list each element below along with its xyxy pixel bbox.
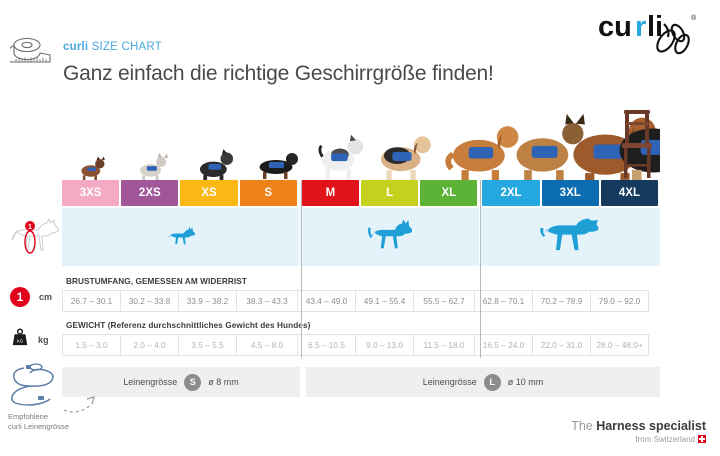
- chest-values-row: 26.7 – 30.130.2 – 33.833.9 – 38.238.3 – …: [62, 290, 660, 312]
- weight-value-3xs: 1.5 – 3.0: [62, 334, 121, 356]
- weight-value-m: 6.5 – 10.5: [297, 334, 356, 356]
- leash-badge-large: L: [484, 374, 501, 391]
- page-kicker: curli SIZE CHART: [63, 41, 162, 53]
- chest-value-m: 43.4 – 49.0: [297, 290, 356, 312]
- footer-tagline-light: The: [571, 419, 596, 433]
- weight-values-row: 1.5 – 3.02.0 – 4.03.5 – 5.54.5 – 8.06.5 …: [62, 334, 660, 356]
- chest-value-xl: 55.5 – 62.7: [413, 290, 475, 312]
- wooden-chair-scale-reference: [616, 108, 658, 180]
- size-chart-table: 3XS2XSXSSMLXL2XL3XL4XL BRUSTUMFAN: [62, 180, 660, 397]
- size-header-2xl[interactable]: 2XL: [482, 180, 539, 206]
- dog-chest-measurement-diagram: 1: [6, 218, 62, 266]
- chest-row-label-row: BRUSTUMFANG, GEMESSEN AM WIDERRIST: [62, 273, 660, 290]
- weight-value-xs: 3.5 – 5.5: [178, 334, 237, 356]
- silhouette-group-large: [480, 208, 660, 266]
- chest-value-3xs: 26.7 – 30.1: [62, 290, 121, 312]
- weight-value-2xl: 16.5 – 24.0: [474, 334, 533, 356]
- size-chart-page: curli SIZE CHART Ganz einfach die richti…: [0, 0, 720, 456]
- size-header-l[interactable]: L: [361, 180, 418, 206]
- weight-unit-label: kg: [38, 335, 49, 345]
- leash-label-large: Leinengrösse: [423, 377, 477, 387]
- dashed-curved-arrow-icon: [62, 394, 104, 414]
- leash-badge-small: S: [184, 374, 201, 391]
- weight-row-label: GEWICHT (Referenz durchschnittliches Gew…: [62, 321, 310, 330]
- size-header-s[interactable]: S: [240, 180, 297, 206]
- svg-text:cu: cu: [598, 11, 632, 43]
- chest-unit-group: 1 cm: [10, 287, 52, 307]
- size-header-xs[interactable]: XS: [180, 180, 237, 206]
- dog-photo-size-comparison: [60, 108, 660, 180]
- leash-size-small: Leinengrösse S ø 8 mm: [62, 367, 300, 397]
- size-header-m[interactable]: M: [302, 180, 359, 206]
- coiled-leash-icon: [8, 358, 70, 408]
- leash-size-row: Leinengrösse S ø 8 mm Leinengrösse L ø 1…: [62, 367, 660, 397]
- leash-diameter-large: ø 10 mm: [508, 377, 544, 387]
- size-header-3xs[interactable]: 3XS: [62, 180, 119, 206]
- small-dog-silhouette: [164, 226, 198, 249]
- chest-value-s: 38.3 – 43.3: [236, 290, 298, 312]
- kicker-brand: curli: [63, 41, 88, 53]
- group-divider-1: [301, 180, 302, 358]
- curli-logo: cu r li ®: [594, 6, 706, 62]
- silhouette-group-small: [62, 208, 300, 266]
- leash-size-large: Leinengrösse L ø 10 mm: [306, 367, 660, 397]
- footer-origin: from Switzerland: [571, 435, 706, 444]
- size-header-2xs[interactable]: 2XS: [121, 180, 178, 206]
- weight-value-4xl: 28.0 – 48.0+: [590, 334, 649, 356]
- chest-value-2xl: 62.8 – 70.1: [474, 290, 533, 312]
- leash-diameter-small: ø 8 mm: [208, 377, 239, 387]
- chest-value-4xl: 79.0 – 92.0: [590, 290, 649, 312]
- weight-unit-group: KG kg: [11, 328, 49, 351]
- size-header-xl[interactable]: XL: [420, 180, 477, 206]
- silhouette-group-medium: [300, 208, 480, 266]
- svg-text:®: ®: [691, 14, 697, 22]
- swiss-flag-icon: [698, 435, 706, 443]
- weight-value-2xs: 2.0 – 4.0: [120, 334, 179, 356]
- weight-value-xl: 11.5 – 18.0: [413, 334, 475, 356]
- size-header-row: 3XS2XSXSSMLXL2XL3XL4XL: [62, 180, 660, 206]
- footer-tagline: The Harness specialist: [571, 419, 706, 433]
- leash-label-small: Leinengrösse: [123, 377, 177, 387]
- large-dog-silhouette: [539, 218, 601, 256]
- chest-unit-label: cm: [39, 292, 52, 302]
- kicker-rest: SIZE CHART: [88, 41, 162, 53]
- medium-dog-silhouette: [365, 220, 415, 254]
- size-header-3xl[interactable]: 3XL: [542, 180, 599, 206]
- silhouette-band: [62, 208, 660, 266]
- svg-text:KG: KG: [17, 338, 24, 343]
- measuring-tape-icon: [10, 36, 54, 66]
- chest-row-label: BRUSTUMFANG, GEMESSEN AM WIDERRIST: [62, 277, 247, 286]
- svg-text:1: 1: [28, 224, 32, 231]
- weight-value-l: 9.0 – 13.0: [355, 334, 414, 356]
- group-divider-2: [480, 180, 481, 358]
- chest-value-3xl: 70.2 – 78.9: [532, 290, 591, 312]
- chest-value-xs: 33.9 – 38.2: [178, 290, 237, 312]
- weight-value-s: 4.5 – 8.0: [236, 334, 298, 356]
- weight-row-label-row: GEWICHT (Referenz durchschnittliches Gew…: [62, 317, 660, 334]
- leash-note-line1: Empfohlene: [8, 412, 69, 422]
- chest-value-2xs: 30.2 – 33.8: [120, 290, 179, 312]
- scale-weight-icon: KG: [11, 328, 29, 351]
- svg-text:r: r: [635, 11, 646, 43]
- leash-note-line2: curli Leinengrösse: [8, 422, 69, 432]
- chest-value-l: 49.1 – 55.4: [355, 290, 414, 312]
- leash-note-caption: Empfohlene curli Leinengrösse: [8, 412, 69, 432]
- size-header-4xl[interactable]: 4XL: [601, 180, 658, 206]
- footer: The Harness specialist from Switzerland: [571, 419, 706, 444]
- page-title: Ganz einfach die richtige Geschirrgröße …: [63, 62, 494, 86]
- red-number-one-badge: 1: [10, 287, 30, 307]
- footer-tagline-bold: Harness specialist: [596, 419, 706, 433]
- footer-origin-text: from Switzerland: [635, 435, 695, 444]
- weight-value-3xl: 22.0 – 31.0: [532, 334, 591, 356]
